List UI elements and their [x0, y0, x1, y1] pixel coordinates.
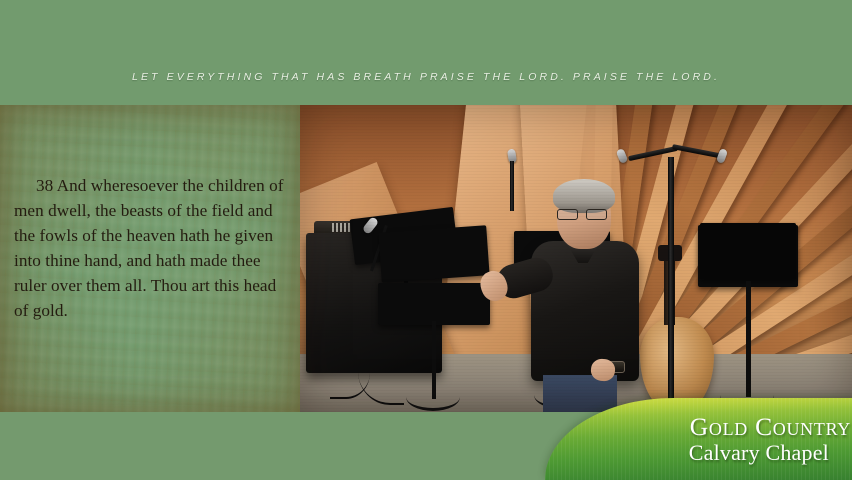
mic-stand-tall-pole: [668, 157, 674, 407]
speaker-figure: [515, 175, 665, 412]
logo-subtitle-calvary-chapel: Calvary Chapel: [545, 440, 829, 466]
logo-title-gold-country: Gold Country: [545, 412, 851, 442]
music-stand-center-head: [378, 225, 489, 282]
microphone-side-pole: [510, 161, 514, 211]
broadcast-screen: LET EVERYTHING THAT HAS BREATH PRAISE TH…: [0, 0, 852, 480]
top-banner-band: LET EVERYTHING THAT HAS BREATH PRAISE TH…: [0, 0, 852, 105]
music-stand-right-face: [700, 223, 796, 279]
music-stand-right-pole: [746, 281, 751, 397]
scripture-verse-text: 38 And wheresoever the children of men d…: [14, 173, 284, 323]
banner-verse-text: LET EVERYTHING THAT HAS BREATH PRAISE TH…: [0, 71, 852, 83]
scripture-panel: 38 And wheresoever the children of men d…: [0, 105, 300, 412]
video-frame: [300, 105, 852, 412]
speaker-glasses: [557, 209, 609, 220]
music-stand-center-pole: [432, 321, 436, 399]
speaker-hair: [553, 179, 615, 213]
music-stand-center-shelf: [378, 283, 490, 325]
